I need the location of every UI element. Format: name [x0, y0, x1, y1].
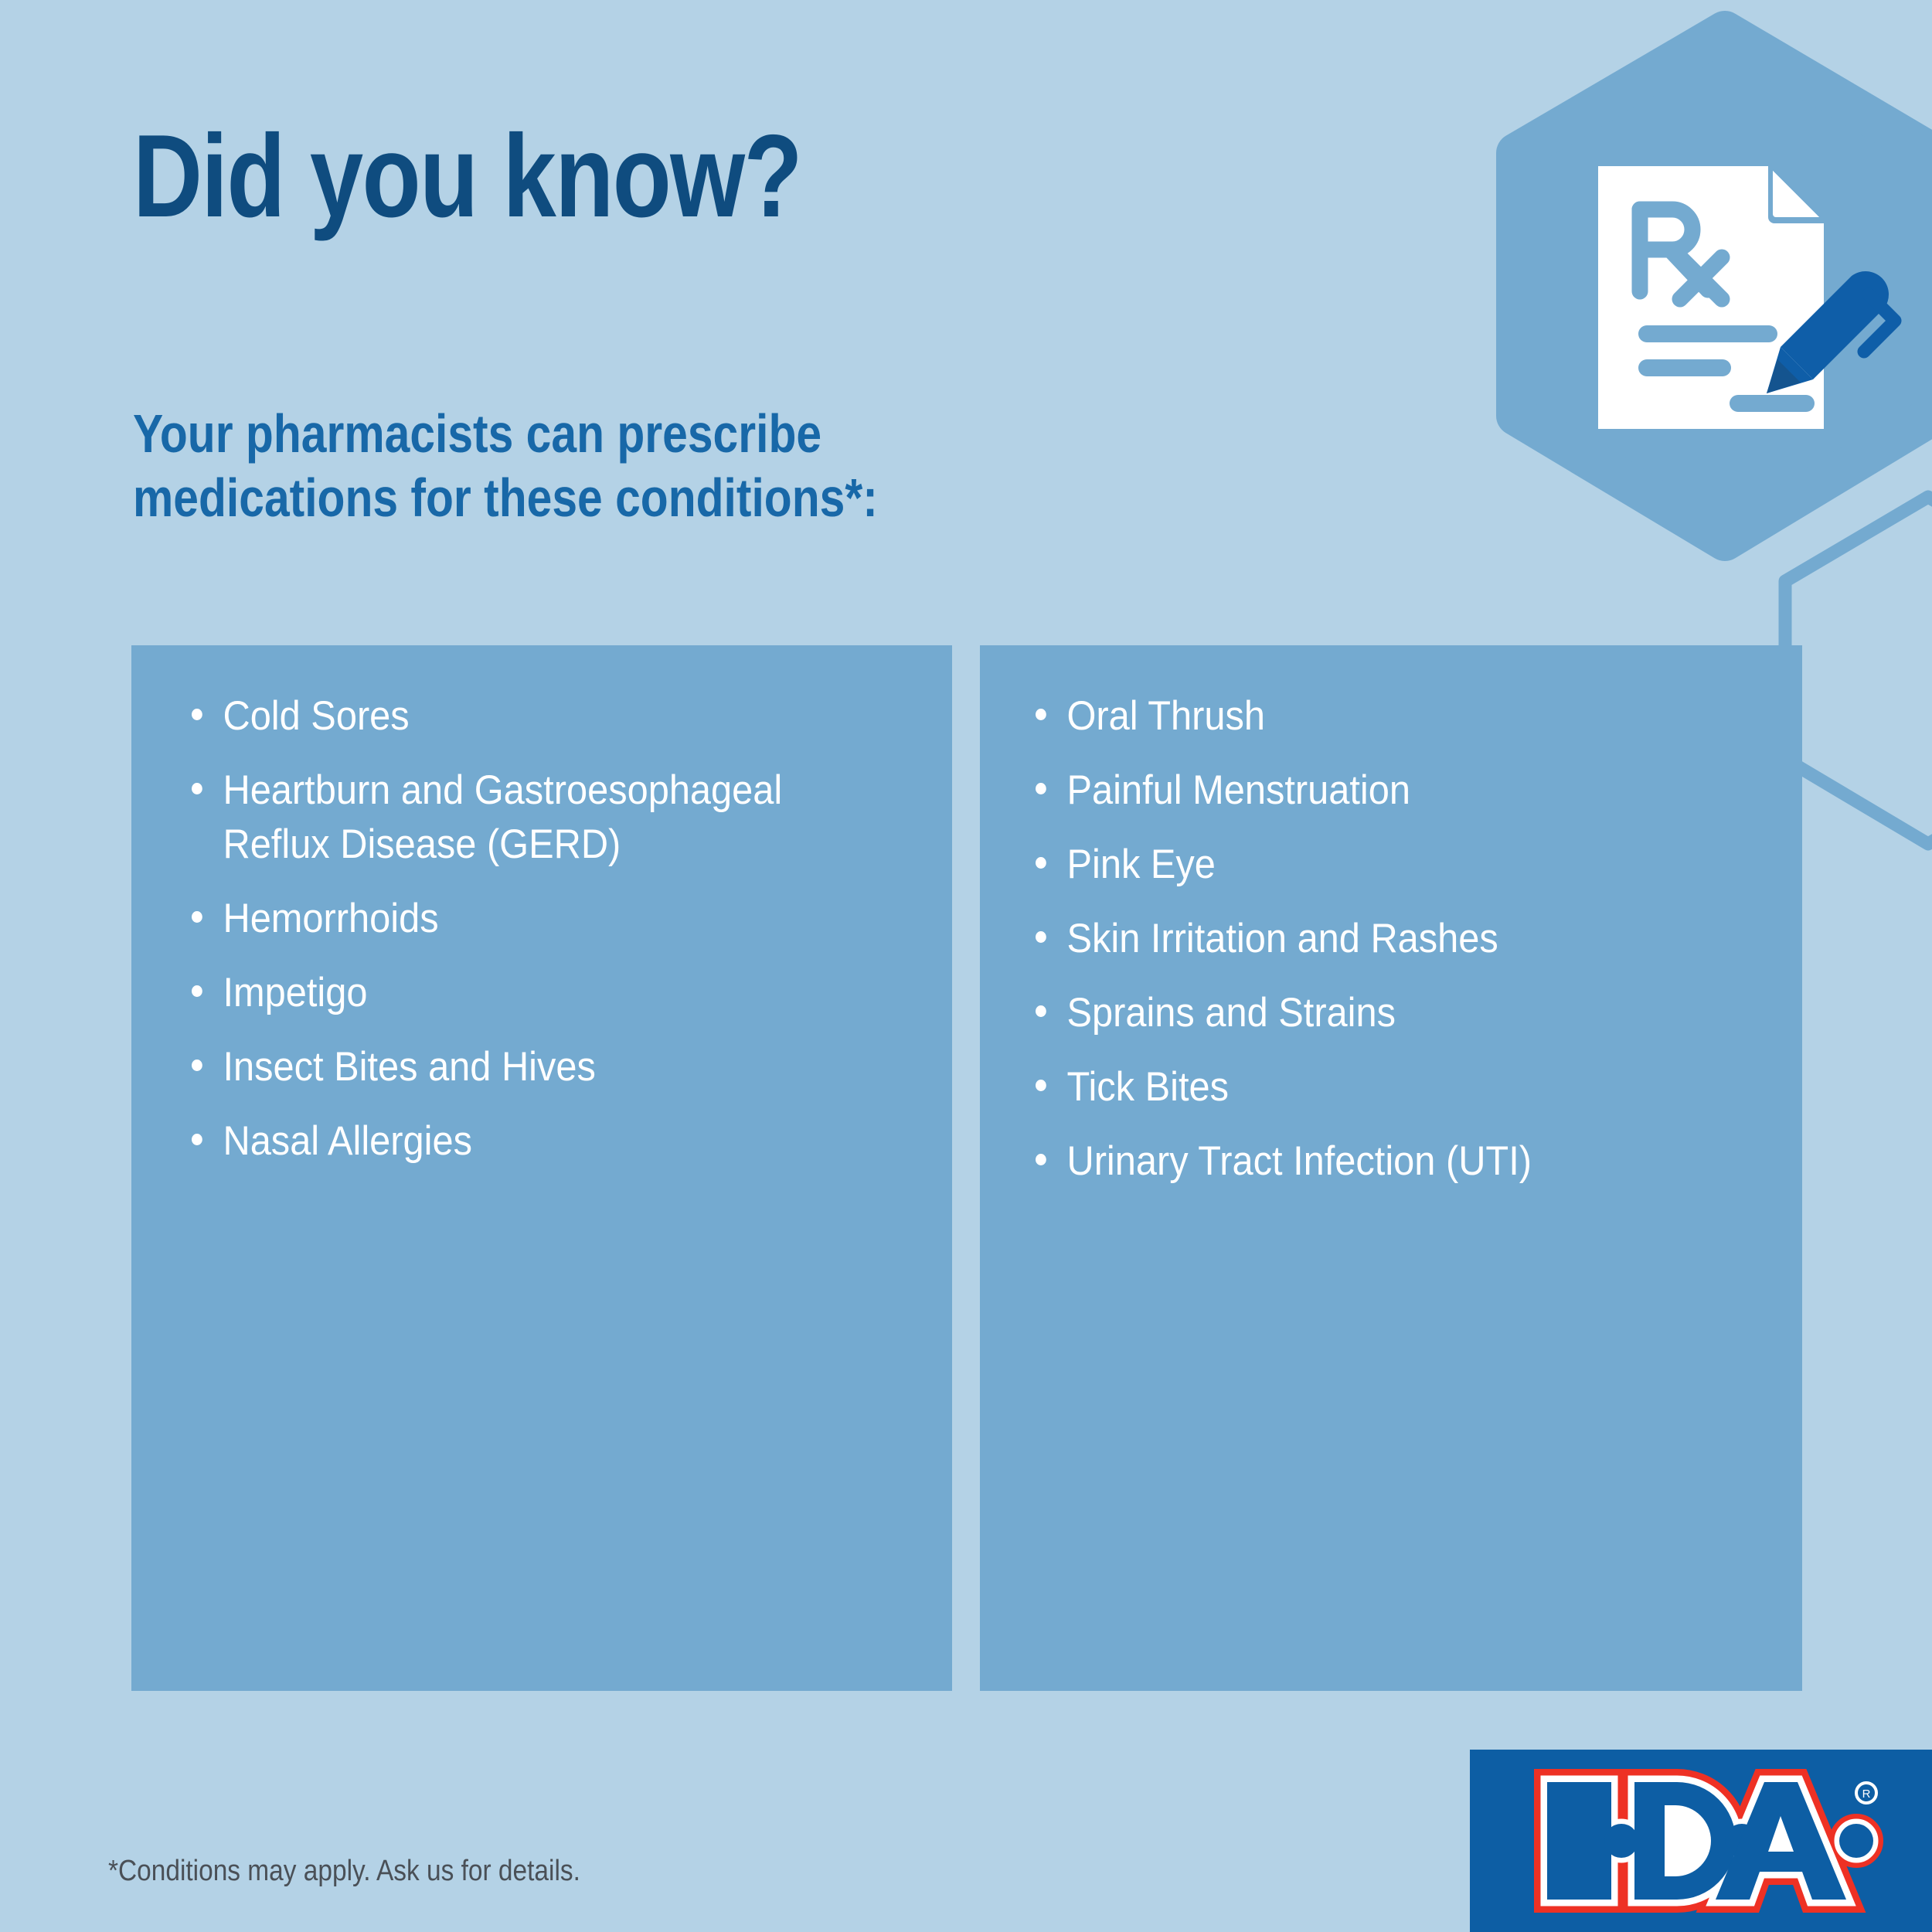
registered-mark-icon: R — [1856, 1783, 1876, 1803]
bullet-icon — [192, 1134, 202, 1145]
condition-right-item: Skin Irritation and Rashes — [1036, 912, 1713, 966]
condition-left-item-label: Insect Bites and Hives — [223, 1044, 595, 1090]
condition-right-item-label: Tick Bites — [1066, 1064, 1229, 1110]
condition-left-item: Heartburn and Gastroesophageal Reflux Di… — [192, 764, 862, 872]
footnote-disclaimer: *Conditions may apply. Ask us for detail… — [108, 1855, 580, 1888]
condition-left-item: Insect Bites and Hives — [192, 1040, 862, 1094]
conditions-list-left: Cold SoresHeartburn and Gastroesophageal… — [131, 645, 952, 1168]
condition-right-item: Tick Bites — [1036, 1060, 1713, 1114]
condition-right-item-label: Urinary Tract Infection (UTI) — [1066, 1138, 1532, 1184]
bullet-icon — [192, 911, 202, 923]
conditions-panel-right: Oral ThrushPainful MenstruationPink EyeS… — [980, 645, 1802, 1691]
document-line-1 — [1638, 325, 1777, 342]
condition-right-item-label: Oral Thrush — [1066, 693, 1265, 739]
condition-right-item: Sprains and Strains — [1036, 986, 1713, 1040]
bullet-icon — [1036, 783, 1046, 794]
condition-left-item-label: Impetigo — [223, 970, 367, 1015]
document-fold-notch — [1773, 171, 1818, 216]
bullet-icon — [1036, 1154, 1046, 1165]
condition-right-item-label: Pink Eye — [1066, 842, 1215, 887]
ida-logo: R — [1470, 1750, 1932, 1932]
conditions-panel-left: Cold SoresHeartburn and Gastroesophageal… — [131, 645, 952, 1691]
bullet-icon — [1036, 709, 1046, 720]
condition-right-item-label: Sprains and Strains — [1066, 990, 1396, 1036]
condition-left-item: Hemorrhoids — [192, 892, 862, 946]
bullet-icon — [192, 1060, 202, 1071]
page-subtitle: Your pharmacists can prescribe medicatio… — [133, 402, 878, 529]
condition-right-item: Painful Menstruation — [1036, 764, 1713, 818]
ida-logo-artwork: R — [1470, 1750, 1932, 1932]
condition-left-item-label: Hemorrhoids — [223, 896, 438, 941]
conditions-list-right: Oral ThrushPainful MenstruationPink EyeS… — [980, 645, 1802, 1189]
bullet-icon — [1036, 931, 1046, 943]
condition-left-item-label: Heartburn and Gastroesophageal Reflux Di… — [223, 767, 782, 867]
condition-left-item-label: Cold Sores — [223, 693, 409, 739]
condition-left-item: Impetigo — [192, 966, 862, 1020]
bullet-icon — [1036, 1080, 1046, 1091]
document-line-2 — [1638, 359, 1731, 376]
condition-left-item-label: Nasal Allergies — [223, 1118, 472, 1164]
bullet-icon — [192, 709, 202, 720]
bullet-icon — [1036, 1005, 1046, 1017]
document-signature-line — [1730, 395, 1815, 412]
condition-right-item: Oral Thrush — [1036, 689, 1713, 743]
svg-text:R: R — [1862, 1787, 1871, 1801]
page-title: Did you know? — [133, 117, 801, 235]
condition-right-item-label: Skin Irritation and Rashes — [1066, 916, 1498, 961]
bullet-icon — [192, 783, 202, 794]
bullet-icon — [192, 985, 202, 997]
bullet-icon — [1036, 857, 1046, 869]
condition-left-item: Cold Sores — [192, 689, 862, 743]
condition-left-item: Nasal Allergies — [192, 1114, 862, 1168]
hexagon-outline-shape — [1785, 497, 1932, 844]
condition-right-item: Urinary Tract Infection (UTI) — [1036, 1134, 1713, 1189]
condition-right-item-label: Painful Menstruation — [1066, 767, 1410, 813]
rx-prescription-document-icon — [1592, 166, 1917, 491]
condition-right-item: Pink Eye — [1036, 838, 1713, 892]
